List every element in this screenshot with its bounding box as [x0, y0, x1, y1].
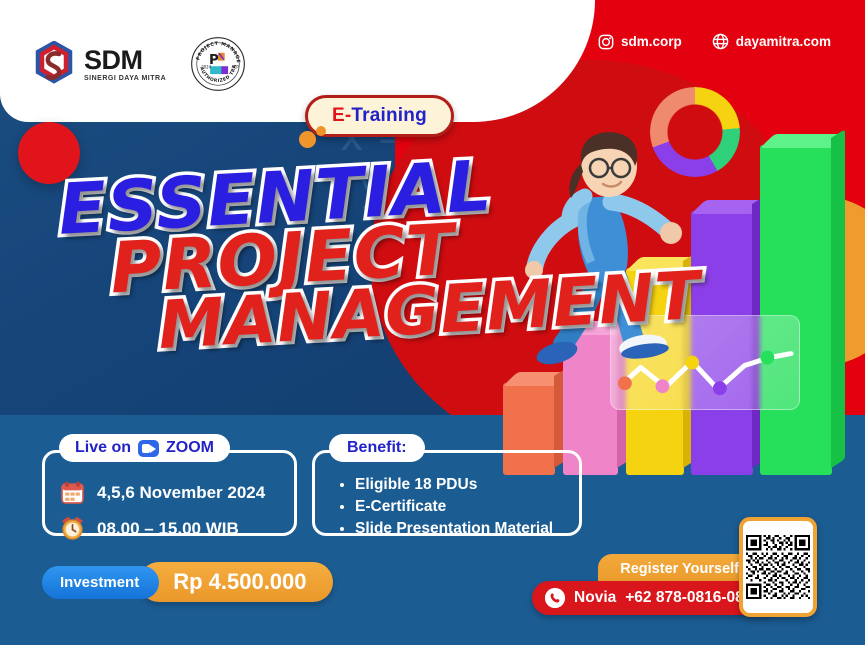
sdm-logo: SDM SINERGI DAYA MITRA [32, 41, 166, 87]
calendar-icon [60, 480, 85, 505]
schedule-time-row: 08.00 – 15.00 WIB [60, 516, 265, 541]
investment-amount: Rp 4.500.000 [139, 562, 332, 602]
investment-block: Investment Rp 4.500.000 [42, 562, 333, 602]
badge-dot-small [316, 126, 326, 136]
pmi-atp-seal: PROJECT MANAGEMENT INSTITUTE AUTHORIZED … [190, 36, 246, 92]
qr-code-image [746, 524, 810, 610]
sdm-logo-tagline: SINERGI DAYA MITRA [84, 75, 166, 82]
live-on-label: Live on [75, 439, 131, 457]
contact-name: Novia [574, 589, 616, 607]
badge-dot-large [299, 131, 316, 148]
poster-root: x = x y x SDM SINERGI DAYA MITRA [0, 0, 865, 645]
benefit-title: Benefit: [329, 434, 425, 462]
qr-code[interactable] [739, 517, 817, 617]
svg-text:2024: 2024 [201, 64, 211, 69]
investment-label: Investment [42, 566, 159, 599]
schedule-date-row: 4,5,6 November 2024 [60, 480, 265, 505]
benefit-list: Eligible 18 PDUs E-Certificate Slide Pre… [341, 474, 553, 540]
alarm-clock-icon [60, 516, 85, 541]
website-contact[interactable]: dayamitra.com [712, 33, 831, 50]
instagram-icon [598, 34, 614, 50]
schedule-time-text: 08.00 – 15.00 WIB [97, 519, 239, 539]
benefit-item: Eligible 18 PDUs [355, 474, 553, 496]
bar-green [760, 145, 832, 475]
benefit-box: Benefit: Eligible 18 PDUs E-Certificate … [312, 450, 582, 536]
header-logos: SDM SINERGI DAYA MITRA PROJECT MANAGEMEN… [32, 36, 246, 92]
schedule-box: Live on ZOOM 4,5,6 November 2024 [42, 450, 297, 536]
badge-suffix: Training [351, 105, 427, 126]
website-url: dayamitra.com [736, 34, 831, 49]
e-training-badge: E-Training [305, 95, 454, 137]
benefit-item: E-Certificate [355, 496, 553, 518]
zoom-icon [138, 440, 159, 457]
header-contact-links: sdm.corp dayamitra.com [598, 33, 831, 50]
globe-icon [712, 33, 729, 50]
zoom-label: ZOOM [166, 439, 214, 457]
badge-prefix: E- [332, 105, 351, 126]
benefit-item: Slide Presentation Material [355, 518, 553, 540]
sdm-logo-name: SDM [84, 47, 166, 74]
instagram-contact[interactable]: sdm.corp [598, 34, 682, 50]
sdm-mark-icon [32, 41, 76, 87]
instagram-handle: sdm.corp [621, 34, 682, 49]
svg-text:ATP: ATP [232, 64, 240, 69]
whatsapp-phone-icon [545, 588, 565, 608]
live-on-zoom-pill: Live on ZOOM [59, 434, 230, 462]
page-title: ESSENTIAL PROJECT MANAGEMENT [58, 160, 701, 342]
schedule-date-text: 4,5,6 November 2024 [97, 483, 265, 503]
